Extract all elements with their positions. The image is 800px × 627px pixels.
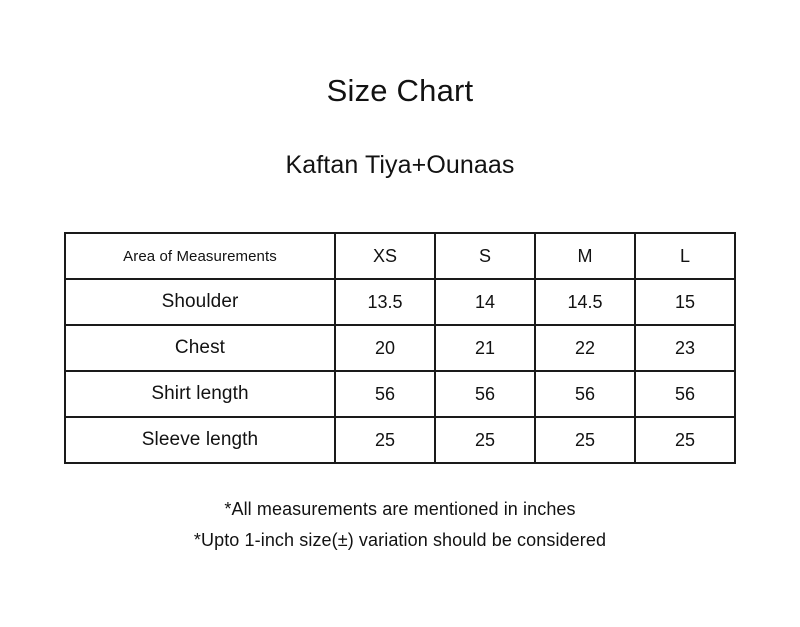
cell-chest-s: 21 bbox=[435, 325, 535, 371]
header-cell-area: Area of Measurements bbox=[65, 233, 335, 279]
footnote-variation: *Upto 1-inch size(±) variation should be… bbox=[0, 525, 800, 556]
cell-chest-xs: 20 bbox=[335, 325, 435, 371]
row-label-shirt-length: Shirt length bbox=[65, 371, 335, 417]
cell-sleeve-length-xs: 25 bbox=[335, 417, 435, 463]
footnotes: *All measurements are mentioned in inche… bbox=[0, 494, 800, 556]
cell-shoulder-l: 15 bbox=[635, 279, 735, 325]
table-header-row: Area of Measurements XS S M L bbox=[65, 233, 735, 279]
size-table-container: Area of Measurements XS S M L Shoulder 1… bbox=[64, 232, 736, 464]
cell-sleeve-length-s: 25 bbox=[435, 417, 535, 463]
footnote-units: *All measurements are mentioned in inche… bbox=[0, 494, 800, 525]
size-chart-page: Size Chart Kaftan Tiya+Ounaas Area of Me… bbox=[0, 0, 800, 627]
cell-chest-m: 22 bbox=[535, 325, 635, 371]
row-label-shoulder: Shoulder bbox=[65, 279, 335, 325]
table-row: Sleeve length 25 25 25 25 bbox=[65, 417, 735, 463]
table-row: Shoulder 13.5 14 14.5 15 bbox=[65, 279, 735, 325]
page-title: Size Chart bbox=[0, 74, 800, 108]
table-row: Chest 20 21 22 23 bbox=[65, 325, 735, 371]
cell-shoulder-xs: 13.5 bbox=[335, 279, 435, 325]
table-row: Shirt length 56 56 56 56 bbox=[65, 371, 735, 417]
cell-shoulder-s: 14 bbox=[435, 279, 535, 325]
cell-shirt-length-xs: 56 bbox=[335, 371, 435, 417]
cell-shoulder-m: 14.5 bbox=[535, 279, 635, 325]
cell-chest-l: 23 bbox=[635, 325, 735, 371]
cell-shirt-length-s: 56 bbox=[435, 371, 535, 417]
row-label-sleeve-length: Sleeve length bbox=[65, 417, 335, 463]
header-cell-xs: XS bbox=[335, 233, 435, 279]
header-cell-l: L bbox=[635, 233, 735, 279]
row-label-chest: Chest bbox=[65, 325, 335, 371]
cell-sleeve-length-m: 25 bbox=[535, 417, 635, 463]
size-chart-table: Area of Measurements XS S M L Shoulder 1… bbox=[64, 232, 736, 464]
cell-shirt-length-l: 56 bbox=[635, 371, 735, 417]
header-cell-s: S bbox=[435, 233, 535, 279]
cell-sleeve-length-l: 25 bbox=[635, 417, 735, 463]
product-subtitle: Kaftan Tiya+Ounaas bbox=[0, 152, 800, 180]
cell-shirt-length-m: 56 bbox=[535, 371, 635, 417]
header-cell-m: M bbox=[535, 233, 635, 279]
